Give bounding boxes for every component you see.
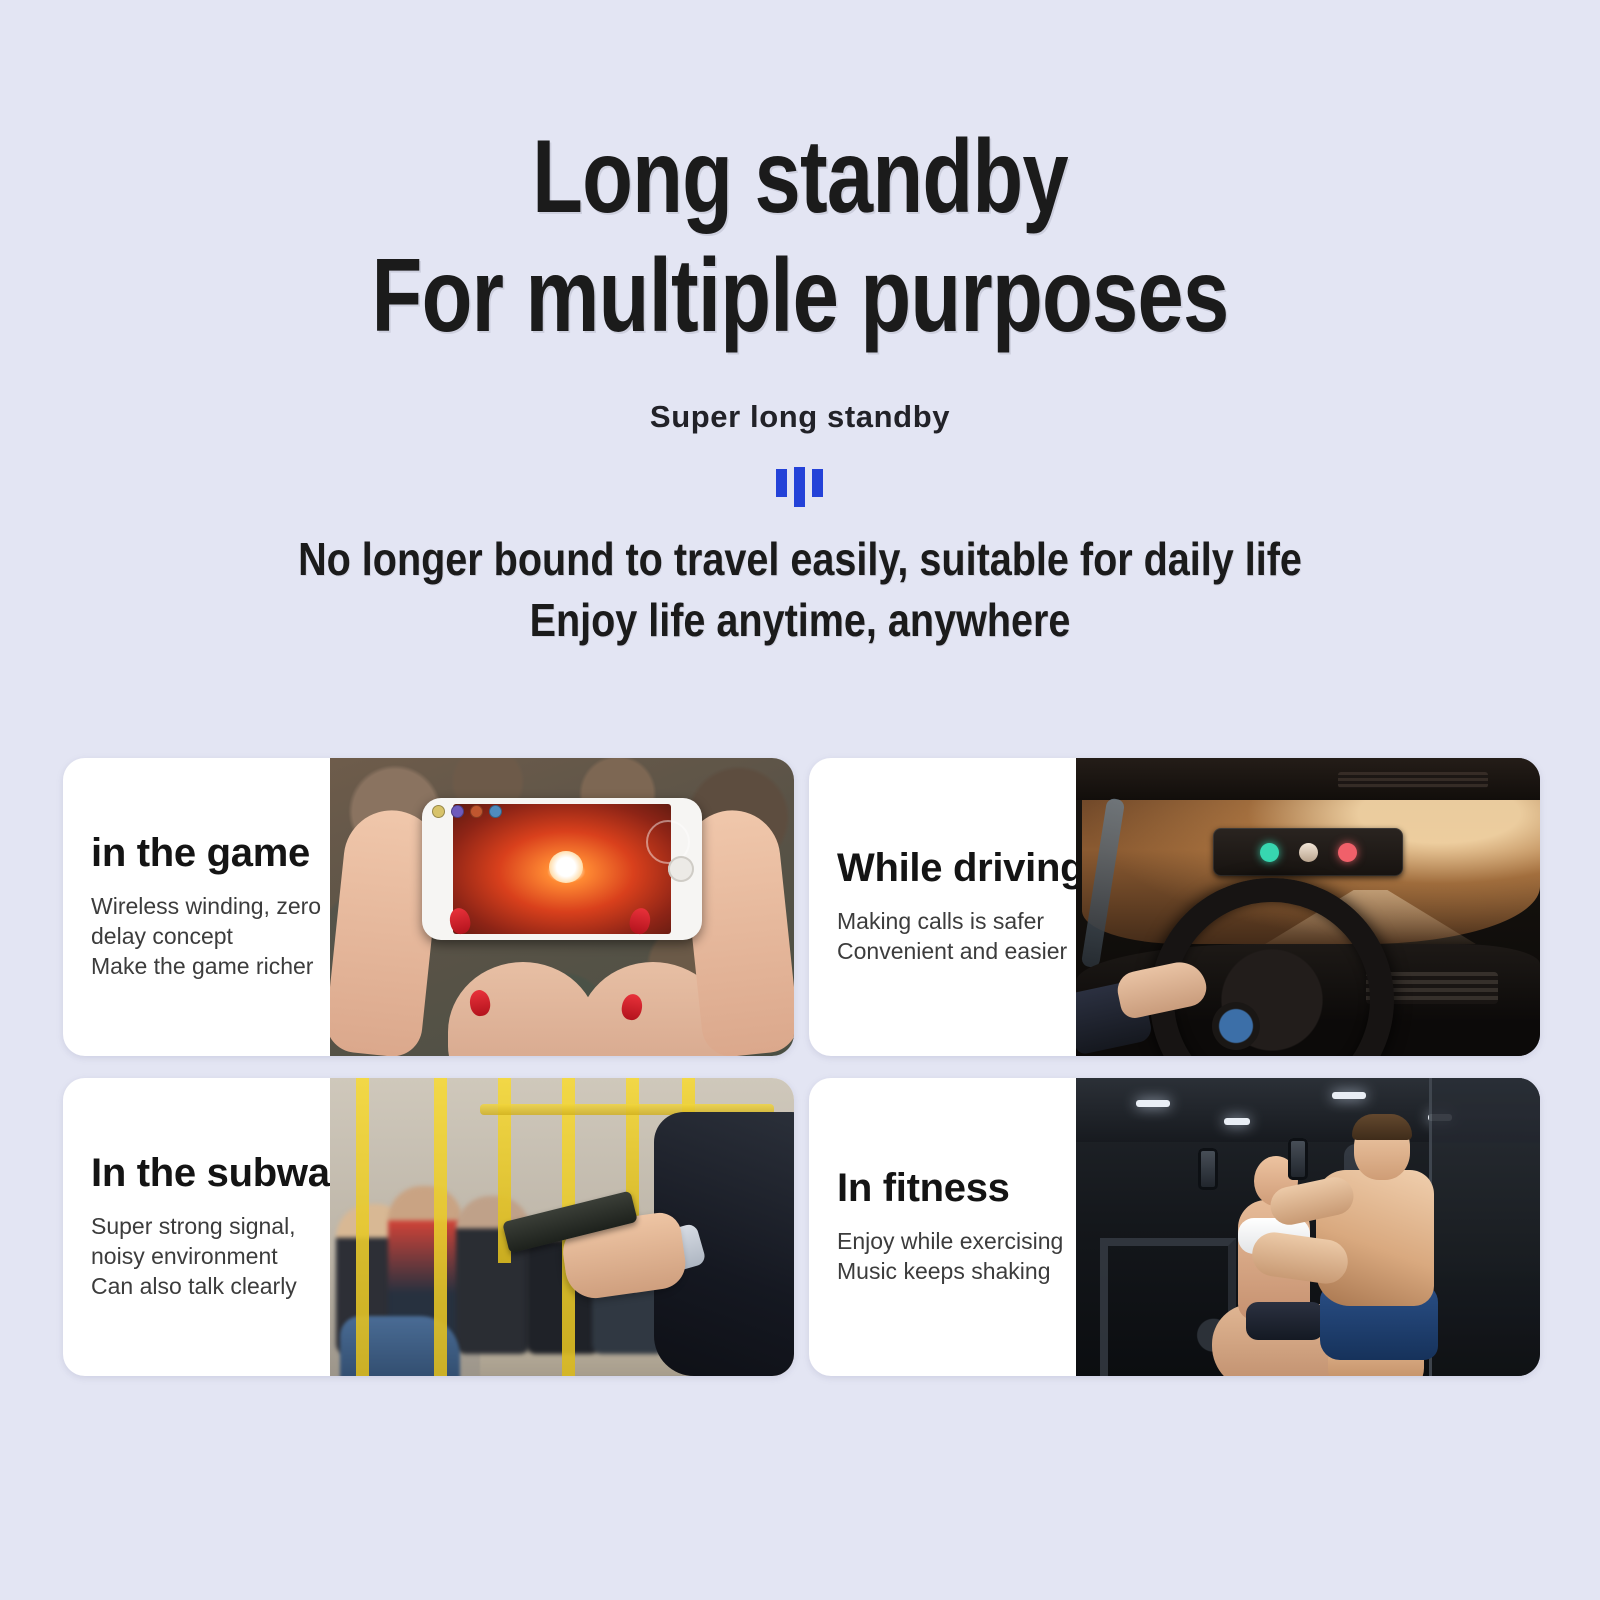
headline-line-1: Long standby xyxy=(160,118,1440,237)
blue-bars-divider-icon xyxy=(768,465,832,507)
divider-bar-right xyxy=(812,469,823,497)
card-text-block: In the subway Super strong signal, noisy… xyxy=(63,1078,330,1376)
card-text-block: In fitness Enjoy while exercising Music … xyxy=(809,1078,1076,1376)
dumbbell xyxy=(1198,1148,1218,1190)
answer-call-icon xyxy=(1260,843,1279,862)
card-desc-line-1: Wireless winding, zero xyxy=(91,892,330,922)
steering-wheel-hub xyxy=(1212,1002,1260,1050)
hero-tagline: No longer bound to travel easily, suitab… xyxy=(112,529,1488,650)
card-title: While driving xyxy=(837,847,1076,889)
use-case-card-grid: in the game Wireless winding, zero delay… xyxy=(63,758,1540,1376)
male-athlete xyxy=(1274,1114,1444,1376)
hud-icon-2 xyxy=(451,805,464,818)
divider-bar-middle xyxy=(794,467,805,507)
tagline-line-1: No longer bound to travel easily, suitab… xyxy=(112,529,1488,590)
card-description: Making calls is safer Convenient and eas… xyxy=(837,907,1076,967)
card-desc-line-2: Music keeps shaking xyxy=(837,1257,1076,1287)
divider-bar-left xyxy=(776,469,787,497)
air-vent xyxy=(1338,772,1488,788)
ceiling-light xyxy=(1332,1092,1366,1099)
card-description: Wireless winding, zero delay concept Mak… xyxy=(91,892,330,982)
card-image-subway xyxy=(330,1078,794,1376)
card-desc-line-1: Enjoy while exercising xyxy=(837,1227,1076,1257)
end-call-icon xyxy=(1338,843,1357,862)
hud-icon-1 xyxy=(432,805,445,818)
headline-line-2: For multiple purposes xyxy=(160,237,1440,356)
use-case-card-driving[interactable]: While driving Making calls is safer Conv… xyxy=(809,758,1540,1056)
card-desc-line-3: Make the game richer xyxy=(91,952,330,982)
page-headline: Long standby For multiple purposes xyxy=(160,118,1440,355)
grab-pole xyxy=(434,1078,447,1376)
card-image-game xyxy=(330,758,794,1056)
card-title: In the subway xyxy=(91,1152,330,1194)
grab-pole xyxy=(356,1078,369,1376)
use-case-card-subway[interactable]: In the subway Super strong signal, noisy… xyxy=(63,1078,794,1376)
card-image-fitness xyxy=(1076,1078,1540,1376)
ceiling-light xyxy=(1136,1100,1170,1107)
hud-icon-3 xyxy=(470,805,483,818)
card-desc-line-3: Can also talk clearly xyxy=(91,1272,330,1302)
card-desc-line-2: delay concept xyxy=(91,922,330,952)
card-description: Super strong signal, noisy environment C… xyxy=(91,1212,330,1302)
card-desc-line-1: Making calls is safer xyxy=(837,907,1076,937)
hero-subtitle: Super long standby xyxy=(0,399,1600,435)
card-desc-line-1: Super strong signal, xyxy=(91,1212,330,1242)
hair xyxy=(1352,1114,1412,1140)
card-title: In fitness xyxy=(837,1167,1076,1209)
card-text-block: in the game Wireless winding, zero delay… xyxy=(63,758,330,1056)
card-image-driving xyxy=(1076,758,1540,1056)
caller-avatar-icon xyxy=(1299,843,1318,862)
hero-section: Long standby For multiple purposes Super… xyxy=(0,0,1600,651)
game-hud-icons xyxy=(432,805,502,818)
phone-home-button xyxy=(668,856,694,882)
ceiling-light xyxy=(1224,1118,1250,1125)
rearview-mirror-dashcam xyxy=(1213,828,1403,876)
hud-icon-4 xyxy=(489,805,502,818)
card-title: in the game xyxy=(91,832,330,874)
gym-mirror-wall xyxy=(1429,1078,1540,1376)
card-desc-line-2: Convenient and easier xyxy=(837,937,1076,967)
use-case-card-fitness[interactable]: In fitness Enjoy while exercising Music … xyxy=(809,1078,1540,1376)
tagline-line-2: Enjoy life anytime, anywhere xyxy=(112,590,1488,651)
card-desc-line-2: noisy environment xyxy=(91,1242,330,1272)
card-description: Enjoy while exercising Music keeps shaki… xyxy=(837,1227,1076,1287)
card-text-block: While driving Making calls is safer Conv… xyxy=(809,758,1076,1056)
use-case-card-game[interactable]: in the game Wireless winding, zero delay… xyxy=(63,758,794,1056)
